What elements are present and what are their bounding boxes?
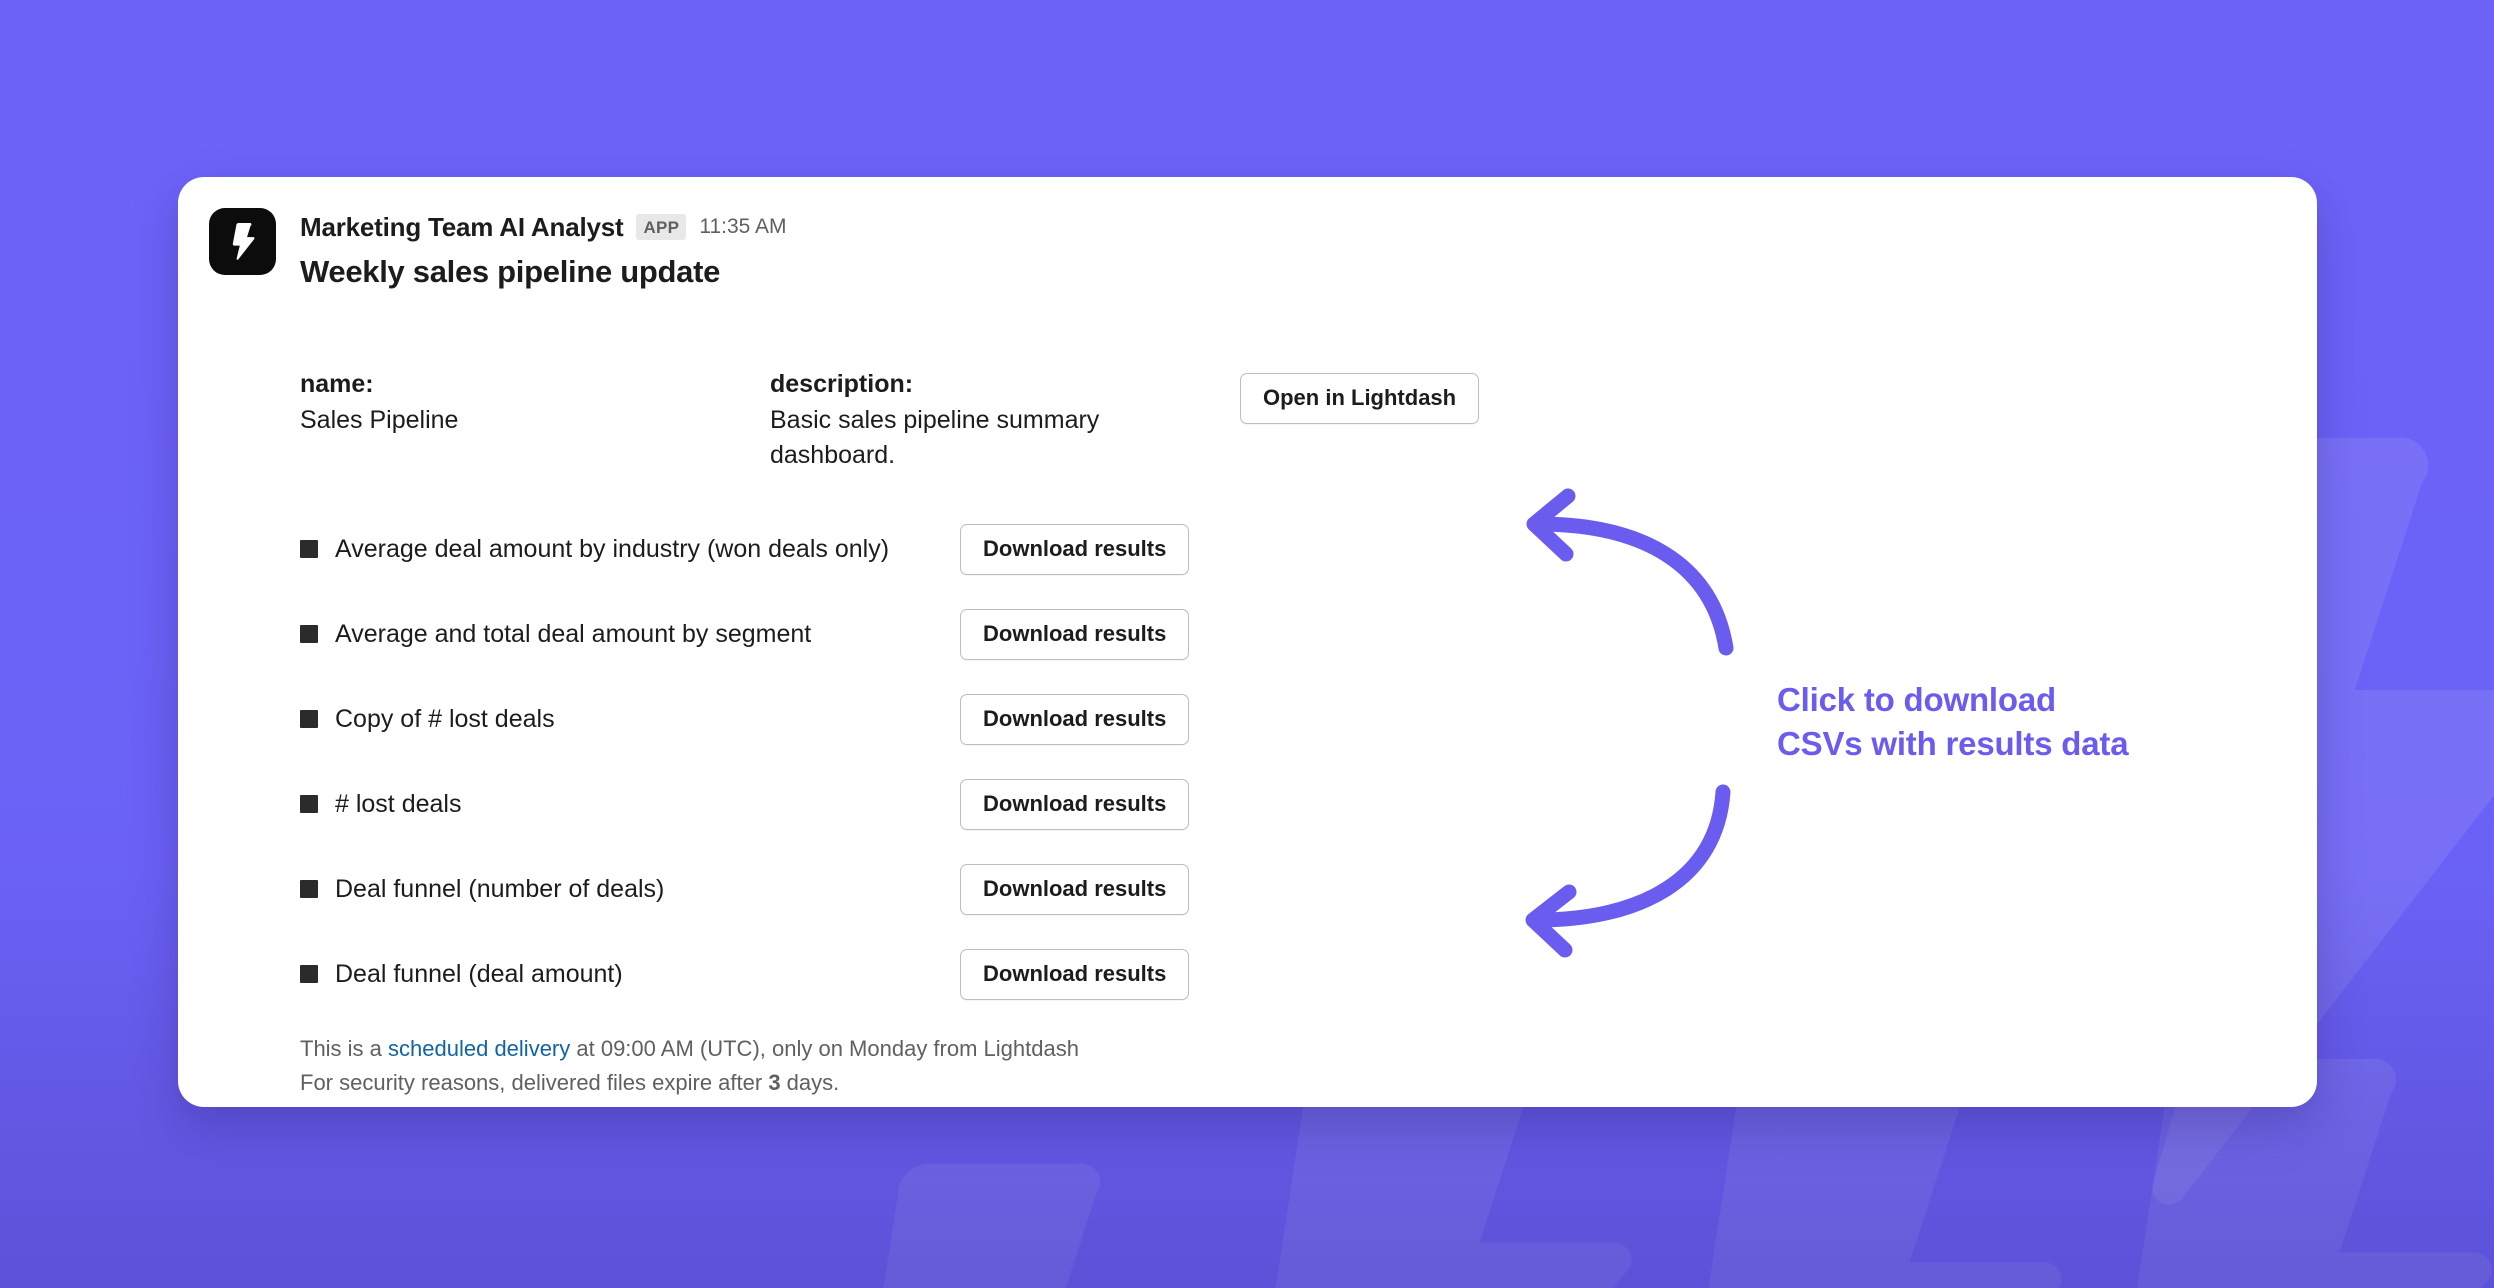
download-results-button[interactable]: Download results (960, 694, 1189, 745)
message-header: Marketing Team AI Analyst APP 11:35 AM W… (209, 208, 787, 290)
download-results-button[interactable]: Download results (960, 949, 1189, 1000)
scheduled-delivery-link[interactable]: scheduled delivery (388, 1036, 570, 1061)
download-results-button[interactable]: Download results (960, 779, 1189, 830)
chart-row: Copy of # lost dealsDownload results (300, 692, 2281, 747)
footer-line-expiry: For security reasons, delivered files ex… (300, 1066, 2281, 1101)
chart-label-wrap: Average and total deal amount by segment (300, 620, 960, 649)
chart-label-wrap: Deal funnel (deal amount) (300, 960, 960, 989)
chart-label: # lost deals (335, 790, 461, 819)
bullet-square-icon (300, 625, 318, 643)
chart-row: Average deal amount by industry (won dea… (300, 522, 2281, 577)
dashboard-meta-row: name: Sales Pipeline description: Basic … (300, 367, 2281, 474)
app-badge: APP (636, 214, 686, 240)
bullet-square-icon (300, 965, 318, 983)
open-in-lightdash-button[interactable]: Open in Lightdash (1240, 373, 1479, 424)
download-results-button[interactable]: Download results (960, 864, 1189, 915)
chart-row: # lost dealsDownload results (300, 777, 2281, 832)
chart-label-wrap: Copy of # lost deals (300, 705, 960, 734)
footer-expiry-days: 3 (768, 1070, 780, 1095)
chart-row: Deal funnel (number of deals)Download re… (300, 862, 2281, 917)
chart-label: Deal funnel (deal amount) (335, 960, 623, 989)
author-line: Marketing Team AI Analyst APP 11:35 AM (300, 212, 787, 242)
footer-schedule-prefix: This is a (300, 1036, 388, 1061)
bullet-square-icon (300, 540, 318, 558)
footer-expiry-prefix: For security reasons, delivered files ex… (300, 1070, 768, 1095)
chart-label-wrap: Average deal amount by industry (won dea… (300, 535, 960, 564)
slack-message-card: Marketing Team AI Analyst APP 11:35 AM W… (178, 177, 2317, 1107)
dashboard-name-field: name: Sales Pipeline (300, 367, 770, 438)
download-results-button[interactable]: Download results (960, 609, 1189, 660)
download-results-button[interactable]: Download results (960, 524, 1189, 575)
dashboard-description-label: description: (770, 367, 1214, 403)
footer-schedule-suffix: at 09:00 AM (UTC), only on Monday from L… (570, 1036, 1079, 1061)
chart-label-wrap: # lost deals (300, 790, 960, 819)
bullet-square-icon (300, 795, 318, 813)
lightning-bolt-icon (209, 208, 276, 275)
footer-line-schedule: This is a scheduled delivery at 09:00 AM… (300, 1032, 2281, 1067)
bullet-square-icon (300, 880, 318, 898)
message-title: Weekly sales pipeline update (300, 254, 787, 290)
dashboard-name-label: name: (300, 367, 744, 403)
chart-row: Average and total deal amount by segment… (300, 607, 2281, 662)
open-in-lightdash-action: Open in Lightdash (1240, 367, 1479, 424)
chart-label: Average and total deal amount by segment (335, 620, 811, 649)
message-body: name: Sales Pipeline description: Basic … (300, 367, 2281, 1101)
chart-label: Deal funnel (number of deals) (335, 875, 664, 904)
dashboard-description-value: Basic sales pipeline summary dashboard. (770, 403, 1160, 474)
chart-list: Average deal amount by industry (won dea… (300, 522, 2281, 1002)
bullet-square-icon (300, 710, 318, 728)
message-timestamp[interactable]: 11:35 AM (699, 215, 786, 239)
dashboard-name-value: Sales Pipeline (300, 403, 690, 439)
chart-label: Average deal amount by industry (won dea… (335, 535, 889, 564)
chart-label-wrap: Deal funnel (number of deals) (300, 875, 960, 904)
chart-row: Deal funnel (deal amount)Download result… (300, 947, 2281, 1002)
dashboard-description-field: description: Basic sales pipeline summar… (770, 367, 1240, 474)
footer-expiry-suffix: days. (781, 1070, 840, 1095)
message-footer: This is a scheduled delivery at 09:00 AM… (300, 1032, 2281, 1102)
chart-label: Copy of # lost deals (335, 705, 555, 734)
author-name[interactable]: Marketing Team AI Analyst (300, 212, 623, 243)
